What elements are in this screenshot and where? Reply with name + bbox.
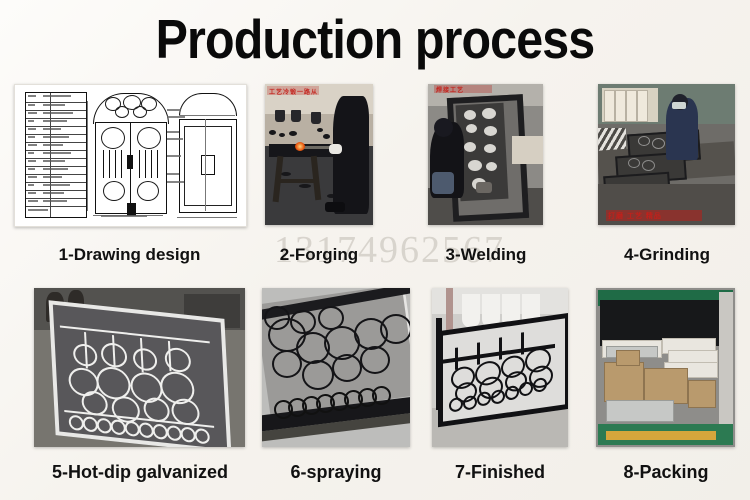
step-label-7: 7-Finished (426, 462, 574, 483)
production-process-poster: Production process (0, 0, 750, 500)
grinding-photo: 打磨 工艺 精品 (598, 84, 735, 225)
finished-gate-photo (432, 288, 568, 447)
step-label-3: 3-Welding (417, 245, 555, 265)
step-image-5-hot-dip-galvanized[interactable] (34, 288, 245, 447)
spraying-photo (262, 288, 410, 447)
step-image-7-finished[interactable] (432, 288, 568, 447)
overlay-text-2: 工艺冷锻一路从 (269, 87, 318, 96)
packing-photo (596, 288, 735, 447)
step-label-4: 4-Grinding (592, 245, 742, 265)
overlay-text-4: 打磨 工艺 精品 (608, 211, 662, 221)
step-image-1-drawing-design[interactable] (14, 84, 247, 227)
cad-drawing-illustration (15, 85, 246, 226)
page-title: Production process (45, 4, 705, 74)
step-label-6: 6-spraying (262, 462, 410, 483)
overlay-text-3: 焊接工艺 (436, 85, 464, 94)
step-image-4-grinding[interactable]: 打磨 工艺 精品 (598, 84, 735, 225)
galvanizing-photo (34, 288, 245, 447)
step-image-6-spraying[interactable] (262, 288, 410, 447)
welding-photo: 焊接工艺 (428, 84, 543, 225)
door-section-drawing (177, 93, 237, 213)
step-image-2-forging[interactable]: 工艺冷锻一路从 (265, 84, 373, 225)
step-label-5: 5-Hot-dip galvanized (14, 462, 266, 483)
step-label-8: 8-Packing (590, 462, 742, 483)
door-elevation-drawing (93, 93, 167, 213)
step-label-2: 2-Forging (250, 245, 388, 265)
forging-photo: 工艺冷锻一路从 (265, 84, 373, 225)
step-image-3-welding[interactable]: 焊接工艺 (428, 84, 543, 225)
step-image-8-packing[interactable] (596, 288, 735, 447)
step-label-1: 1-Drawing design (14, 245, 245, 265)
